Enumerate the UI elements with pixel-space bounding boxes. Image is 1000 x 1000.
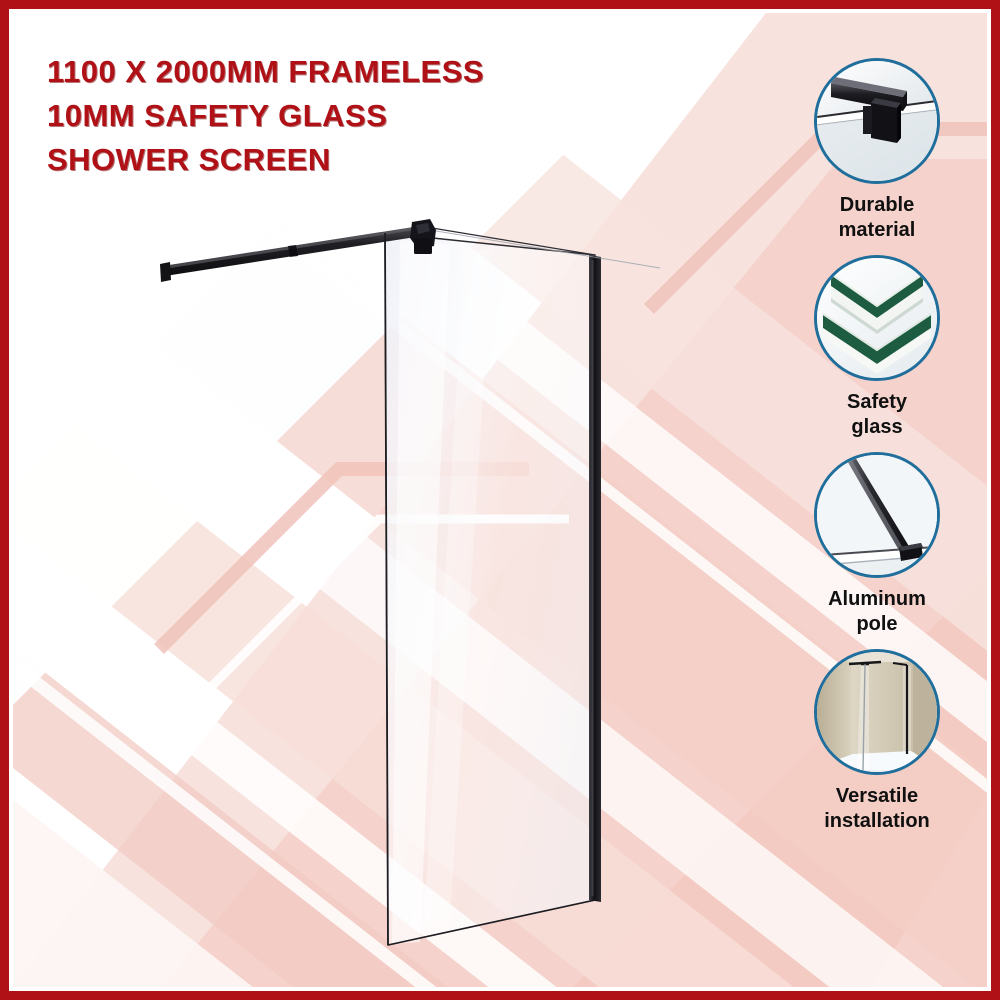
feature-label-versatile-installation: Versatile installation bbox=[782, 784, 972, 834]
black-edge-profile bbox=[589, 255, 601, 902]
feature-safety-glass: Safety glass bbox=[777, 255, 977, 440]
title-line-3: Shower Screen bbox=[47, 138, 647, 182]
feature-label-line1: Safety bbox=[847, 391, 907, 413]
diagonal-pole-icon bbox=[814, 452, 940, 578]
layered-glass-icon bbox=[814, 255, 940, 381]
support-bar bbox=[160, 226, 422, 282]
feature-label-line2: installation bbox=[782, 809, 972, 834]
page-title: 1100 x 2000mm Frameless 10mm Safety Glas… bbox=[47, 50, 647, 182]
title-line-2: 10mm Safety Glass bbox=[47, 94, 647, 138]
glass-panel bbox=[385, 233, 595, 945]
feature-label-line1: Versatile bbox=[836, 785, 918, 807]
feature-label-line2: glass bbox=[782, 415, 972, 440]
product-image-canvas: 1100 x 2000mm Frameless 10mm Safety Glas… bbox=[0, 0, 1000, 1000]
wall-flange bbox=[160, 262, 171, 282]
feature-label-safety-glass: Safety glass bbox=[782, 390, 972, 440]
feature-label-line1: Aluminum bbox=[828, 588, 926, 610]
feature-versatile-installation: Versatile installation bbox=[777, 649, 977, 834]
shower-enclosure-icon bbox=[814, 649, 940, 775]
product-illustration bbox=[120, 200, 660, 980]
feature-label-durable-material: Durable material bbox=[782, 193, 972, 243]
feature-label-line1: Durable bbox=[840, 194, 914, 216]
feature-label-line2: pole bbox=[782, 612, 972, 637]
title-line-1: 1100 x 2000mm Frameless bbox=[47, 50, 647, 94]
feature-aluminum-pole: Aluminum pole bbox=[777, 452, 977, 637]
feature-label-line2: material bbox=[782, 218, 972, 243]
feature-label-aluminum-pole: Aluminum pole bbox=[782, 587, 972, 637]
feature-durable-material: Durable material bbox=[777, 58, 977, 243]
bracket-clamp-icon bbox=[814, 58, 940, 184]
feature-list: Durable material bbox=[772, 58, 982, 834]
